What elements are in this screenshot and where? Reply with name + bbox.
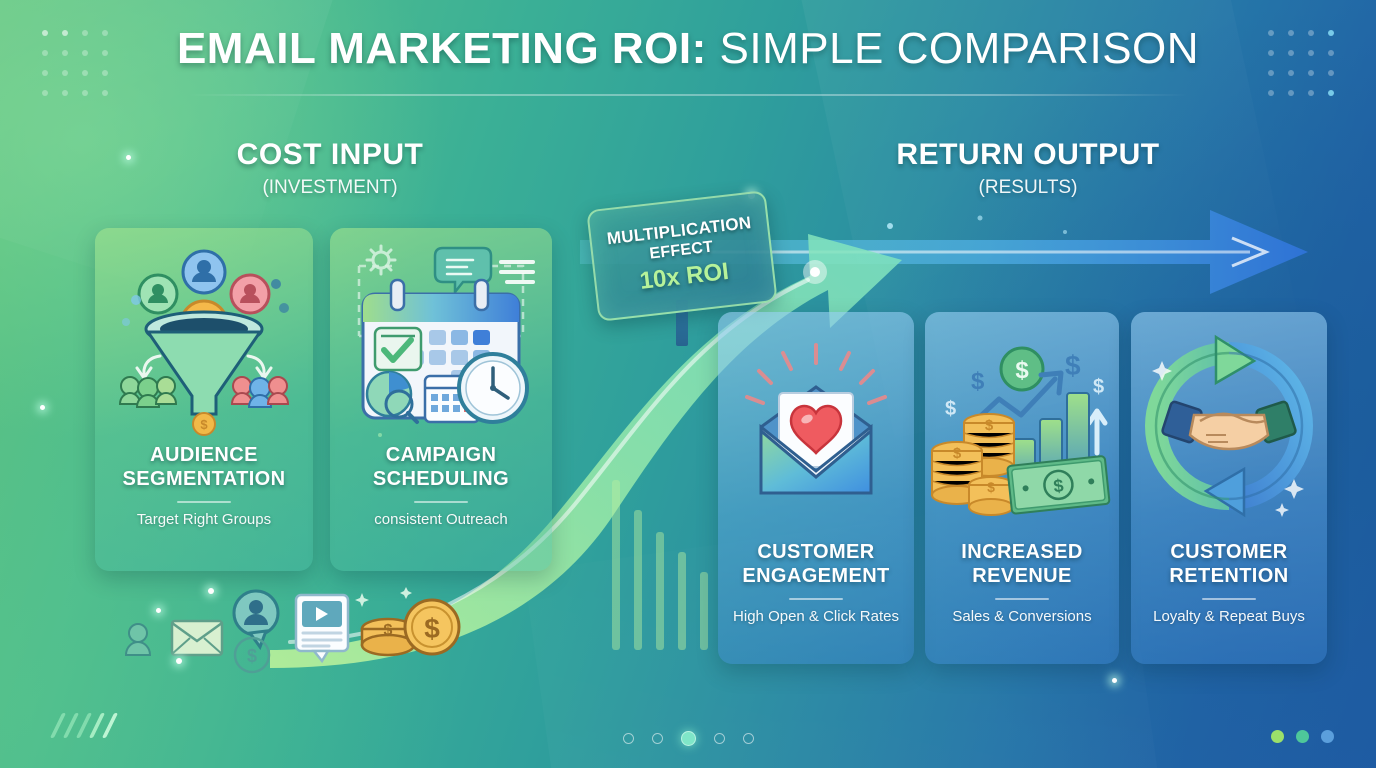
card-divider <box>1202 598 1256 600</box>
calendar-clock-icon <box>330 228 552 443</box>
title-divider <box>188 94 1188 96</box>
card-description: Target Right Groups <box>131 511 277 528</box>
svg-text:$: $ <box>247 646 257 666</box>
svg-text:$: $ <box>971 368 985 395</box>
card-title: CUSTOMER ENGAGEMENT <box>734 540 897 589</box>
card-audience-segmentation[interactable]: $ AUDIENCE SEGMENTATION Target Right Gro… <box>95 228 313 571</box>
section-header-cost: COST INPUT (INVESTMENT) <box>180 138 480 199</box>
svg-text:$: $ <box>1065 350 1081 381</box>
handshake-cycle-icon <box>1131 312 1327 540</box>
section-header-return: RETURN OUTPUT (RESULTS) <box>878 138 1178 199</box>
svg-text:$: $ <box>1052 475 1064 496</box>
bottom-right-dot-green <box>1271 730 1284 743</box>
pagination-dot-5[interactable] <box>743 733 754 744</box>
card-title-line2: SCHEDULING <box>373 468 509 490</box>
card-description: consistent Outreach <box>368 511 513 528</box>
person-icon <box>126 624 150 655</box>
svg-text:$: $ <box>945 398 956 420</box>
card-customer-engagement[interactable]: CUSTOMER ENGAGEMENT High Open & Click Ra… <box>718 312 914 664</box>
card-title-line1: CAMPAIGN <box>386 444 497 466</box>
sparkle-bottom-right <box>1112 678 1117 683</box>
gold-coins-icon: $ $ <box>362 600 459 655</box>
page-title: EMAIL MARKETING ROI: SIMPLE COMPARISON <box>0 24 1376 74</box>
card-title-line1: CUSTOMER <box>757 541 874 563</box>
section-subtitle-return: (RESULTS) <box>878 177 1178 199</box>
svg-text:$: $ <box>1015 357 1029 384</box>
envelope-icon <box>172 621 222 655</box>
sparkle-strip-top <box>208 588 214 594</box>
card-title-line1: INCREASED <box>961 541 1082 563</box>
sign-roi-value: 10x ROI <box>638 258 730 296</box>
card-campaign-scheduling[interactable]: CAMPAIGN SCHEDULING consistent Outreach <box>330 228 552 571</box>
card-divider <box>995 598 1049 600</box>
bottom-right-dot-teal <box>1296 730 1309 743</box>
multiplication-effect-sign: MULTIPLICATION EFFECT 10x ROI <box>586 190 778 322</box>
card-description: High Open & Click Rates <box>727 608 905 625</box>
page-title-bold: EMAIL MARKETING ROI: <box>177 24 707 73</box>
pagination-dots[interactable] <box>0 733 1376 746</box>
svg-text:$: $ <box>200 417 208 432</box>
svg-text:$: $ <box>424 613 440 644</box>
svg-text:$: $ <box>384 622 393 639</box>
card-title-line1: CUSTOMER <box>1170 541 1287 563</box>
card-title-line1: AUDIENCE <box>150 444 258 466</box>
pagination-dot-4[interactable] <box>714 733 725 744</box>
card-title-line2: ENGAGEMENT <box>742 565 889 587</box>
infographic-canvas: EMAIL MARKETING ROI: SIMPLE COMPARISON C… <box>0 0 1376 768</box>
svg-text:$: $ <box>953 445 962 462</box>
sparkle-strip-bottom <box>176 658 182 664</box>
card-description: Loyalty & Repeat Buys <box>1147 608 1311 625</box>
svg-text:$: $ <box>985 417 994 434</box>
sparkle-mid-left <box>40 405 45 410</box>
card-divider <box>177 501 231 503</box>
bottom-right-dots <box>1271 730 1334 743</box>
card-title: INCREASED REVENUE <box>953 540 1090 589</box>
page-title-light: SIMPLE COMPARISON <box>707 24 1199 73</box>
card-title-line2: REVENUE <box>972 565 1072 587</box>
pagination-dot-2[interactable] <box>652 733 663 744</box>
envelope-heart-icon <box>718 312 914 540</box>
input-assets-icon-strip: $ $ $ <box>110 585 480 675</box>
sparkle-strip-mid <box>156 608 161 613</box>
sparkle-upper-left <box>126 155 131 160</box>
card-title: CAMPAIGN SCHEDULING <box>365 443 517 492</box>
card-title: CUSTOMER RETENTION <box>1161 540 1296 589</box>
content-card-icon <box>296 595 348 661</box>
card-title-line2: SEGMENTATION <box>123 468 286 490</box>
section-heading-return: RETURN OUTPUT <box>878 138 1178 172</box>
bottom-right-dot-blue <box>1321 730 1334 743</box>
card-title: AUDIENCE SEGMENTATION <box>115 443 294 492</box>
funnel-audience-icon: $ <box>95 228 313 443</box>
money-growth-chart-icon: $ $ $ $ $ <box>925 312 1119 540</box>
card-description: Sales & Conversions <box>946 608 1097 625</box>
pagination-dot-3-active[interactable] <box>681 731 696 746</box>
card-divider <box>414 501 468 503</box>
pagination-dot-1[interactable] <box>623 733 634 744</box>
section-subtitle-cost: (INVESTMENT) <box>180 177 480 199</box>
card-increased-revenue[interactable]: $ $ $ $ $ <box>925 312 1119 664</box>
person-bubble-icon: $ <box>234 591 278 672</box>
section-heading-cost: COST INPUT <box>180 138 480 172</box>
svg-text:$: $ <box>987 479 995 495</box>
card-title-line2: RETENTION <box>1169 565 1288 587</box>
card-customer-retention[interactable]: CUSTOMER RETENTION Loyalty & Repeat Buys <box>1131 312 1327 664</box>
card-divider <box>789 598 843 600</box>
svg-text:$: $ <box>1093 376 1104 398</box>
